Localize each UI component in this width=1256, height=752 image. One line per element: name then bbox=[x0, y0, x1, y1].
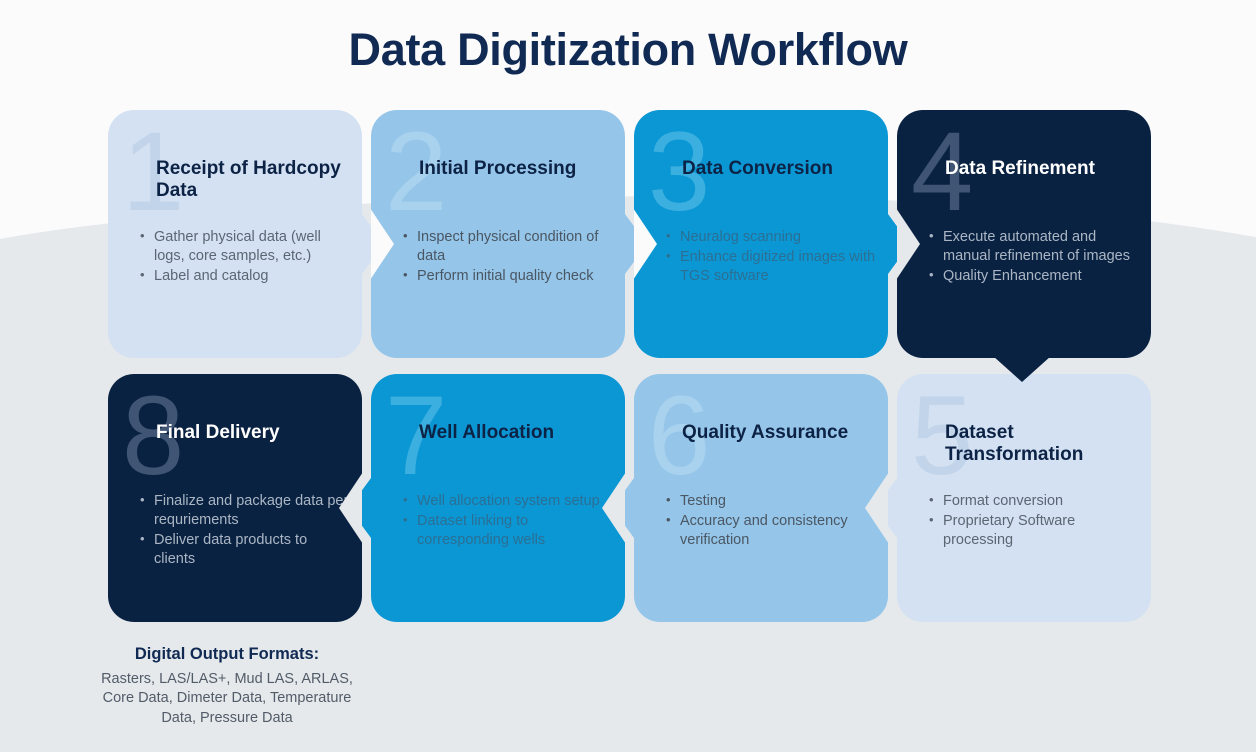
bullet-item: Gather physical data (well logs, core sa… bbox=[138, 228, 352, 266]
bullet-item: Neuralog scanning bbox=[664, 228, 878, 247]
page-title: Data Digitization Workflow bbox=[0, 24, 1256, 76]
bullet-item: Inspect physical condition of data bbox=[401, 228, 615, 266]
card-body: 4 Data Refinement Execute automated and … bbox=[897, 110, 1151, 358]
workflow-diagram: Data Digitization Workflow 1 Receipt of … bbox=[0, 0, 1256, 752]
card-body: 3 Data Conversion Neuralog scanning Enha… bbox=[634, 110, 888, 358]
step-title: Receipt of Hardcopy Data bbox=[156, 158, 346, 202]
bullet-item: Perform initial quality check bbox=[401, 267, 615, 286]
step-title: Data Refinement bbox=[945, 158, 1135, 180]
workflow-step-card-3[interactable]: 3 Data Conversion Neuralog scanning Enha… bbox=[634, 110, 888, 358]
step-bullet-list: Format conversion Proprietary Software p… bbox=[927, 492, 1141, 551]
bullet-item: Quality Enhancement bbox=[927, 267, 1141, 286]
workflow-step-card-4[interactable]: 4 Data Refinement Execute automated and … bbox=[897, 110, 1151, 358]
step-title: Data Conversion bbox=[682, 158, 872, 180]
step-title: Well Allocation bbox=[419, 422, 609, 444]
bullet-item: Proprietary Software processing bbox=[927, 512, 1141, 550]
card-body: 7 Well Allocation Well allocation system… bbox=[371, 374, 625, 622]
footer-title: Digital Output Formats: bbox=[92, 645, 362, 664]
step-bullet-list: Testing Accuracy and consistency verific… bbox=[664, 492, 878, 551]
workflow-step-card-6[interactable]: 6 Quality Assurance Testing Accuracy and… bbox=[634, 374, 888, 622]
workflow-step-card-5[interactable]: 5 Dataset Transformation Format conversi… bbox=[897, 374, 1151, 622]
bullet-item: Enhance digitized images with TGS softwa… bbox=[664, 248, 878, 286]
step-title: Initial Processing bbox=[419, 158, 609, 180]
workflow-step-card-1[interactable]: 1 Receipt of Hardcopy Data Gather physic… bbox=[108, 110, 362, 358]
bullet-item: Well allocation system setup bbox=[401, 492, 615, 511]
footer-formats-list: Rasters, LAS/LAS+, Mud LAS, ARLAS, Core … bbox=[92, 670, 362, 728]
step-title: Dataset Transformation bbox=[945, 422, 1135, 466]
bullet-item: Testing bbox=[664, 492, 878, 511]
digital-output-formats: Digital Output Formats: Rasters, LAS/LAS… bbox=[92, 645, 362, 728]
step-bullet-list: Neuralog scanning Enhance digitized imag… bbox=[664, 228, 878, 287]
step-bullet-list: Execute automated and manual refinement … bbox=[927, 228, 1141, 287]
card-body: 6 Quality Assurance Testing Accuracy and… bbox=[634, 374, 888, 622]
bullet-item: Label and catalog bbox=[138, 267, 352, 286]
workflow-step-card-7[interactable]: 7 Well Allocation Well allocation system… bbox=[371, 374, 625, 622]
step-bullet-list: Well allocation system setup Dataset lin… bbox=[401, 492, 615, 551]
bullet-item: Finalize and package data per requriemen… bbox=[138, 492, 352, 530]
bullet-item: Accuracy and consistency verification bbox=[664, 512, 878, 550]
bullet-item: Format conversion bbox=[927, 492, 1141, 511]
step-bullet-list: Finalize and package data per requriemen… bbox=[138, 492, 352, 570]
card-body: 8 Final Delivery Finalize and package da… bbox=[108, 374, 362, 622]
card-body: 2 Initial Processing Inspect physical co… bbox=[371, 110, 625, 358]
card-body: 1 Receipt of Hardcopy Data Gather physic… bbox=[108, 110, 362, 358]
bullet-item: Execute automated and manual refinement … bbox=[927, 228, 1141, 266]
workflow-step-card-2[interactable]: 2 Initial Processing Inspect physical co… bbox=[371, 110, 625, 358]
step-bullet-list: Gather physical data (well logs, core sa… bbox=[138, 228, 352, 287]
bullet-item: Dataset linking to corresponding wells bbox=[401, 512, 615, 550]
step-title: Final Delivery bbox=[156, 422, 346, 444]
bullet-item: Deliver data products to clients bbox=[138, 531, 352, 569]
step-bullet-list: Inspect physical condition of data Perfo… bbox=[401, 228, 615, 287]
step-title: Quality Assurance bbox=[682, 422, 872, 444]
workflow-step-card-8[interactable]: 8 Final Delivery Finalize and package da… bbox=[108, 374, 362, 622]
card-body: 5 Dataset Transformation Format conversi… bbox=[897, 374, 1151, 622]
